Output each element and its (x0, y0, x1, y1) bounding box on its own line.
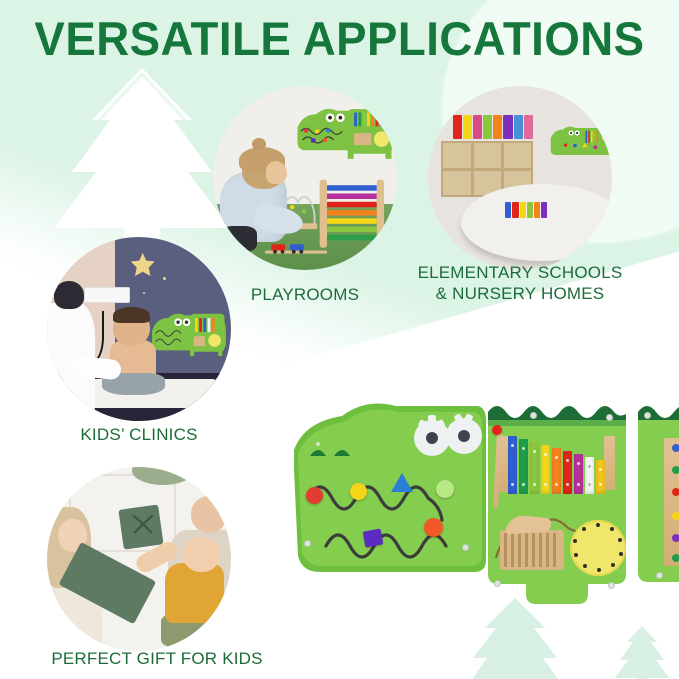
product-busy-board (288, 400, 679, 620)
gift-bow-icon (132, 513, 154, 535)
screw-icon (608, 582, 615, 589)
fir-tree-tiny-icon (612, 626, 672, 679)
wall-busy-board-icon (150, 307, 227, 359)
caption-line-1: ELEMENTARY SCHOOLS (408, 262, 632, 283)
bead-purple-square[interactable] (363, 529, 384, 548)
slider-bead-yellow[interactable] (672, 512, 679, 520)
gear-right-icon[interactable] (446, 418, 482, 454)
gift-baby-sweater (165, 563, 224, 624)
drum-pad[interactable] (570, 520, 626, 576)
bead-red[interactable] (306, 487, 323, 504)
slider-bead-purple[interactable] (672, 534, 679, 542)
clinic-child-hair (113, 307, 150, 324)
caption-perfect-gift: PERFECT GIFT FOR KIDS (27, 648, 287, 669)
bead-blue-triangle[interactable] (390, 472, 414, 494)
bead-light-green[interactable] (436, 480, 454, 498)
caption-line-2: & NURSERY HOMES (408, 283, 632, 304)
gear-left-icon[interactable] (414, 420, 450, 456)
bead-orange[interactable] (424, 518, 443, 537)
gift-father-head (191, 496, 228, 533)
photo-playrooms (213, 86, 397, 270)
mallet-head[interactable] (492, 425, 502, 435)
star-decal-icon (128, 252, 157, 278)
wooden-train-icon (265, 241, 328, 258)
slider-bead-blue[interactable] (672, 444, 679, 452)
slider-bead-green[interactable] (672, 466, 679, 474)
clinic-wall-dispenser (84, 287, 130, 304)
screw-icon (530, 412, 537, 419)
classroom-books (443, 115, 544, 139)
caption-playrooms: PLAYROOMS (213, 284, 397, 305)
abacus-icon (316, 176, 390, 250)
guiro-scraper[interactable] (502, 512, 554, 538)
photo-elementary-schools (428, 86, 612, 270)
classroom-color-cards (505, 202, 553, 219)
gift-baby-head (183, 537, 220, 572)
screw-icon (644, 412, 651, 419)
doctor-head (54, 281, 83, 309)
slider-track[interactable] (664, 438, 679, 566)
photo-kids-clinics (47, 237, 231, 421)
wall-busy-board-icon (294, 101, 397, 164)
xylophone-keys[interactable] (508, 432, 608, 494)
caption-kids-clinics: KIDS’ CLINICS (47, 424, 231, 445)
page-title: VERSATILE APPLICATIONS (10, 12, 669, 66)
playroom-child-face (266, 161, 286, 183)
bead-yellow[interactable] (350, 483, 367, 500)
screw-icon (494, 580, 501, 587)
caption-elementary-schools: ELEMENTARY SCHOOLS & NURSERY HOMES (408, 262, 632, 304)
poster-root: VERSATILE APPLICATIONS (0, 0, 679, 679)
photo-perfect-gift (47, 467, 231, 651)
slider-bead-green-2[interactable] (672, 554, 679, 562)
classroom-table (461, 184, 612, 261)
slider-bead-red[interactable] (672, 488, 679, 496)
screw-icon (656, 572, 663, 579)
wall-busy-board-icon (549, 121, 612, 161)
screw-icon (606, 414, 613, 421)
star-dot-icon (143, 292, 145, 294)
